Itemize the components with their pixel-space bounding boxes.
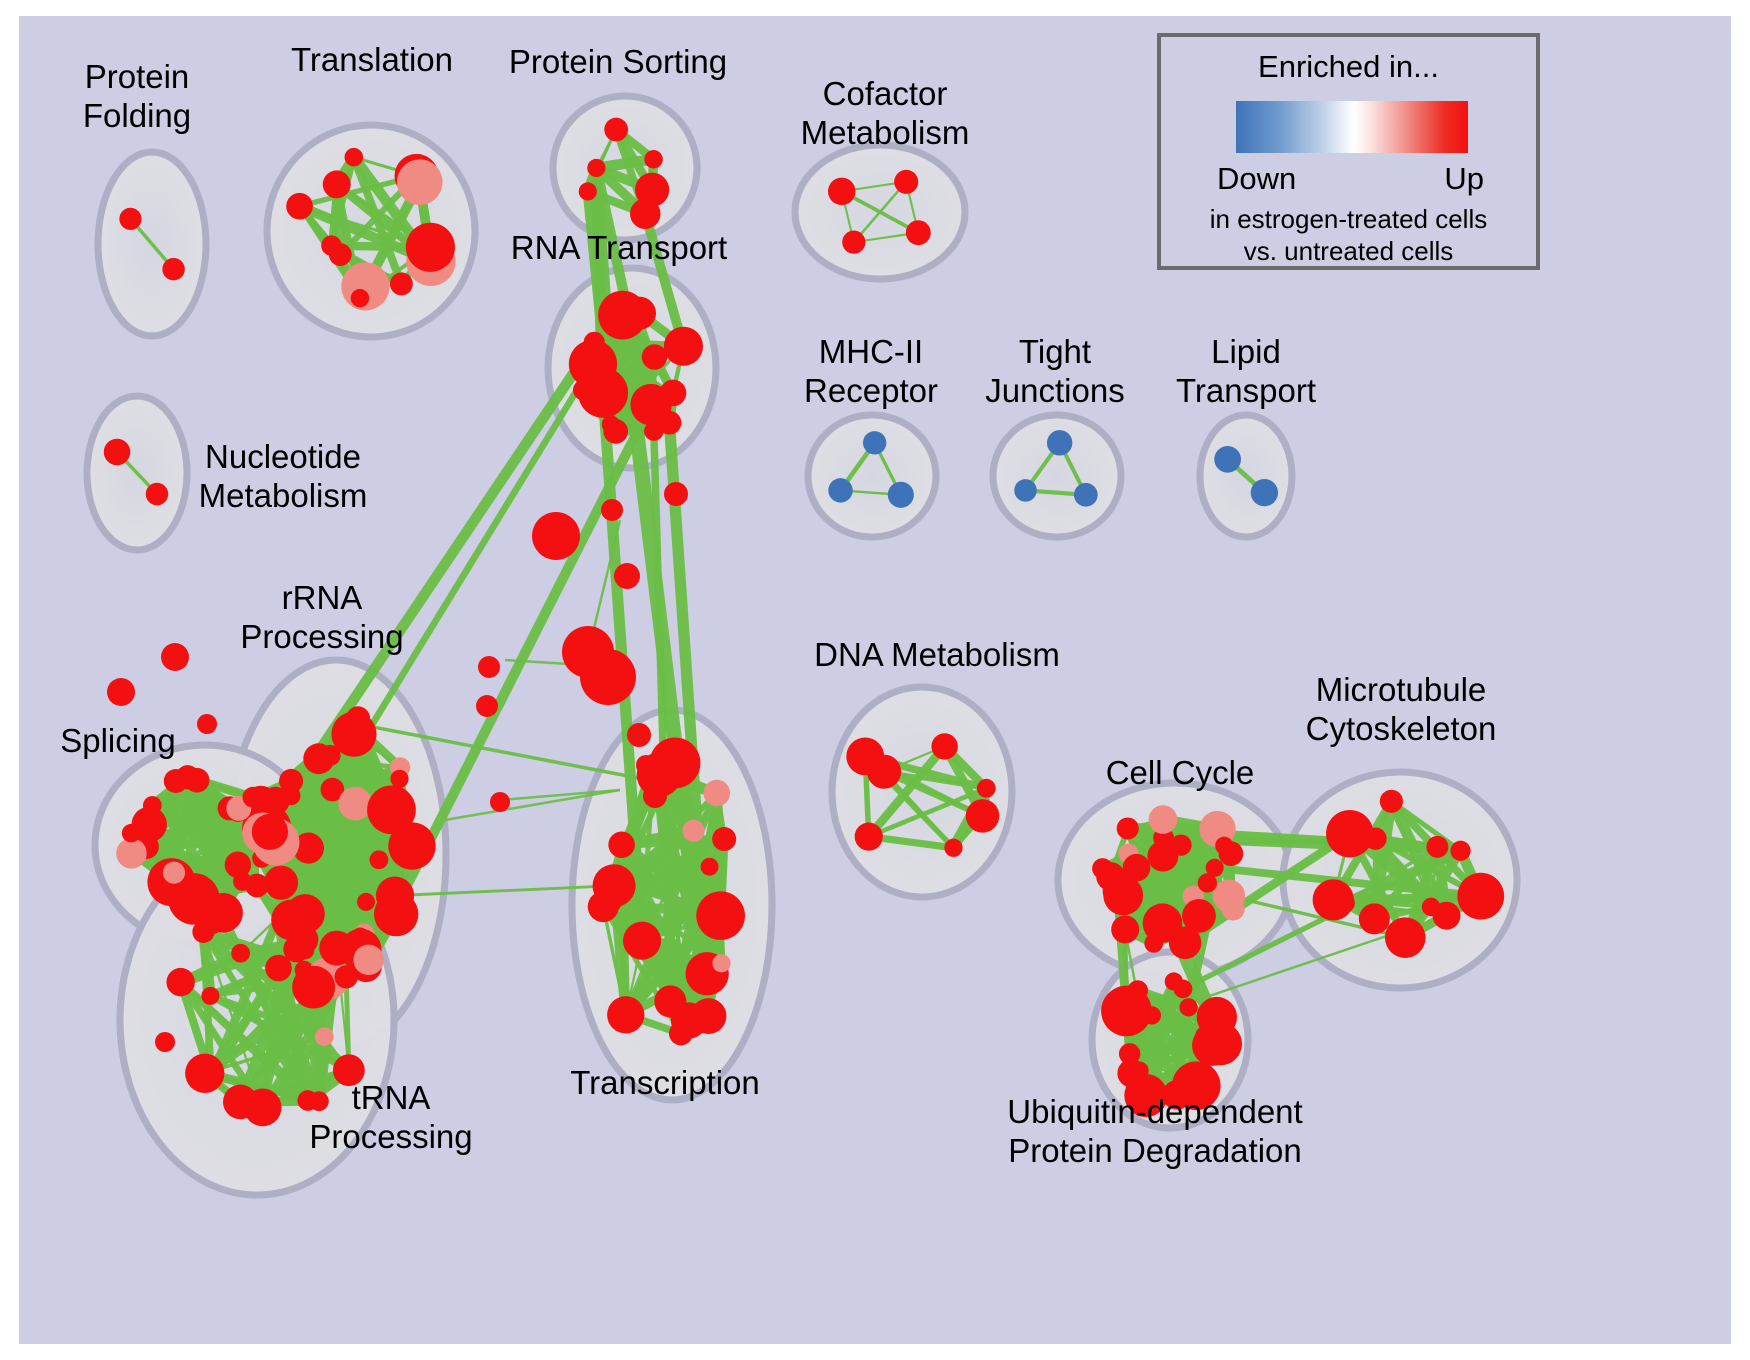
network-node[interactable] xyxy=(584,332,605,353)
network-node[interactable] xyxy=(1215,837,1233,855)
network-node[interactable] xyxy=(370,850,389,869)
network-node[interactable] xyxy=(709,902,727,920)
network-node[interactable] xyxy=(353,945,383,975)
network-node[interactable] xyxy=(828,178,855,205)
network-node[interactable] xyxy=(351,927,369,945)
network-node[interactable] xyxy=(1144,934,1163,953)
network-node[interactable] xyxy=(351,289,369,307)
network-node[interactable] xyxy=(642,344,668,370)
network-node[interactable] xyxy=(587,159,605,177)
network-node[interactable] xyxy=(888,482,914,508)
network-node[interactable] xyxy=(390,272,413,295)
network-node[interactable] xyxy=(1385,917,1426,958)
network-node[interactable] xyxy=(1117,1059,1146,1088)
network-node[interactable] xyxy=(406,223,455,272)
network-node[interactable] xyxy=(1014,479,1037,502)
network-node[interactable] xyxy=(321,235,341,255)
network-node[interactable] xyxy=(131,807,166,842)
network-node[interactable] xyxy=(1047,430,1072,455)
network-node[interactable] xyxy=(323,170,351,198)
network-node[interactable] xyxy=(335,965,358,988)
legend-subtitle-line2: vs. untreated cells xyxy=(1161,236,1536,267)
network-node[interactable] xyxy=(712,954,730,972)
network-node[interactable] xyxy=(390,770,408,788)
network-node[interactable] xyxy=(1170,834,1191,855)
network-node[interactable] xyxy=(664,327,703,366)
legend-low-label: Down xyxy=(1217,161,1296,197)
network-node[interactable] xyxy=(637,753,682,798)
network-node[interactable] xyxy=(1092,858,1113,879)
network-node[interactable] xyxy=(265,955,292,982)
network-node[interactable] xyxy=(197,714,217,734)
network-node[interactable] xyxy=(931,733,957,759)
network-node[interactable] xyxy=(701,858,719,876)
network-node[interactable] xyxy=(894,170,918,194)
network-node[interactable] xyxy=(1074,483,1098,507)
network-node[interactable] xyxy=(331,712,376,757)
network-node[interactable] xyxy=(846,737,884,775)
network-node[interactable] xyxy=(944,839,962,857)
network-node[interactable] xyxy=(1251,479,1278,506)
cluster-label-rna-transport: RNA Transport xyxy=(511,228,727,267)
cluster-label-ubiquitin-protein-degradation: Ubiquitin-dependent Protein Degradation xyxy=(1007,1092,1302,1170)
network-node[interactable] xyxy=(608,831,635,858)
network-node[interactable] xyxy=(233,872,252,891)
cluster-label-mhc-ii-receptor: MHC-II Receptor xyxy=(804,332,938,410)
network-node[interactable] xyxy=(397,159,443,205)
network-node[interactable] xyxy=(166,968,194,996)
network-node[interactable] xyxy=(163,862,185,884)
network-node[interactable] xyxy=(660,380,687,407)
network-node[interactable] xyxy=(315,1027,334,1046)
network-node[interactable] xyxy=(1130,1000,1151,1021)
network-node[interactable] xyxy=(603,419,628,444)
network-node[interactable] xyxy=(192,921,214,943)
network-node[interactable] xyxy=(644,150,662,168)
network-node[interactable] xyxy=(146,483,169,506)
network-node[interactable] xyxy=(286,193,313,220)
network-node[interactable] xyxy=(601,499,623,521)
cluster-label-protein-sorting: Protein Sorting xyxy=(509,42,727,81)
network-node[interactable] xyxy=(580,649,636,705)
network-node[interactable] xyxy=(155,1032,175,1052)
legend-colorbar xyxy=(1236,101,1468,153)
network-node[interactable] xyxy=(863,431,886,454)
network-node[interactable] xyxy=(1174,979,1193,998)
network-node[interactable] xyxy=(116,838,146,868)
network-node[interactable] xyxy=(242,787,263,808)
network-node[interactable] xyxy=(1198,873,1217,892)
network-node[interactable] xyxy=(1213,880,1245,912)
network-node[interactable] xyxy=(604,118,628,142)
network-node[interactable] xyxy=(107,678,135,706)
network-node[interactable] xyxy=(1450,841,1470,861)
network-node[interactable] xyxy=(1127,980,1148,1001)
network-node[interactable] xyxy=(490,792,510,812)
network-node[interactable] xyxy=(607,996,644,1033)
cluster-label-transcription: Transcription xyxy=(570,1063,760,1102)
network-node[interactable] xyxy=(1123,854,1151,882)
network-node[interactable] xyxy=(282,786,301,805)
network-node[interactable] xyxy=(292,966,335,1009)
network-node[interactable] xyxy=(478,656,500,678)
network-node[interactable] xyxy=(231,944,250,963)
network-node[interactable] xyxy=(162,258,184,280)
cluster-label-lipid-transport: Lipid Transport xyxy=(1176,332,1316,410)
network-node[interactable] xyxy=(1380,790,1403,813)
network-node[interactable] xyxy=(1192,1025,1233,1066)
network-node[interactable] xyxy=(104,439,131,466)
cluster-label-microtubule-cytoskeleton: Microtubule Cytoskeleton xyxy=(1306,670,1497,748)
network-node[interactable] xyxy=(1364,827,1386,849)
network-node[interactable] xyxy=(828,478,852,502)
network-node[interactable] xyxy=(1214,446,1241,473)
network-node[interactable] xyxy=(1426,836,1448,858)
network-node[interactable] xyxy=(703,780,730,807)
cluster-label-rrna-processing: rRNA Processing xyxy=(240,578,403,656)
network-node[interactable] xyxy=(664,482,688,506)
legend-subtitle-line1: in estrogen-treated cells xyxy=(1161,204,1536,235)
network-node[interactable] xyxy=(977,779,996,798)
legend-box: Enriched in... Down Up in estrogen-treat… xyxy=(1157,33,1540,270)
network-node[interactable] xyxy=(1160,918,1182,940)
network-node[interactable] xyxy=(164,769,188,793)
network-node[interactable] xyxy=(367,785,416,834)
network-node[interactable] xyxy=(223,1085,258,1120)
network-node[interactable] xyxy=(1179,998,1197,1016)
network-node[interactable] xyxy=(623,922,661,960)
network-node[interactable] xyxy=(593,864,636,907)
network-node[interactable] xyxy=(623,297,656,330)
network-node[interactable] xyxy=(579,182,597,200)
legend-high-label: Up xyxy=(1444,161,1484,197)
network-node[interactable] xyxy=(374,892,418,936)
network-node[interactable] xyxy=(712,827,736,851)
network-node[interactable] xyxy=(252,814,288,850)
network-node[interactable] xyxy=(966,799,1000,833)
cluster-label-tight-junctions: Tight Junctions xyxy=(985,332,1124,410)
network-node[interactable] xyxy=(644,421,663,440)
network-node[interactable] xyxy=(264,866,298,900)
cluster-label-dna-metabolism: DNA Metabolism xyxy=(814,635,1060,674)
network-node[interactable] xyxy=(119,208,141,230)
cluster-label-nucleotide-metabolism: Nucleotide Metabolism xyxy=(199,437,368,515)
cluster-label-trna-processing: tRNA Processing xyxy=(309,1078,472,1156)
network-node[interactable] xyxy=(338,787,372,821)
network-node[interactable] xyxy=(1149,805,1178,834)
network-node[interactable] xyxy=(627,723,651,747)
network-node[interactable] xyxy=(682,820,704,842)
network-node[interactable] xyxy=(200,1066,223,1089)
cluster-label-cell-cycle: Cell Cycle xyxy=(1106,753,1255,792)
network-node[interactable] xyxy=(345,148,364,167)
network-node[interactable] xyxy=(161,643,189,671)
network-node[interactable] xyxy=(842,231,865,254)
network-figure: Protein FoldingTranslationProtein Sortin… xyxy=(0,0,1750,1360)
network-node[interactable] xyxy=(1117,817,1139,839)
network-node[interactable] xyxy=(1457,873,1504,920)
network-node[interactable] xyxy=(1359,903,1390,934)
network-node[interactable] xyxy=(319,931,354,966)
network-node[interactable] xyxy=(906,220,931,245)
cluster-label-translation: Translation xyxy=(291,40,453,79)
network-node[interactable] xyxy=(654,985,686,1017)
network-node[interactable] xyxy=(201,987,219,1005)
network-node[interactable] xyxy=(1335,893,1354,912)
network-node[interactable] xyxy=(1111,915,1139,943)
legend-title: Enriched in... xyxy=(1161,49,1536,85)
network-node[interactable] xyxy=(303,743,334,774)
cluster-label-splicing: Splicing xyxy=(60,721,176,760)
network-node[interactable] xyxy=(630,198,660,228)
network-node[interactable] xyxy=(532,512,580,560)
network-node[interactable] xyxy=(357,893,375,911)
cluster-label-cofactor-metabolism: Cofactor Metabolism xyxy=(801,74,970,152)
network-node[interactable] xyxy=(288,924,319,955)
network-node[interactable] xyxy=(476,695,498,717)
cluster-label-protein-folding: Protein Folding xyxy=(83,57,191,135)
network-node[interactable] xyxy=(1433,902,1461,930)
network-node[interactable] xyxy=(855,823,883,851)
network-node[interactable] xyxy=(614,563,640,589)
